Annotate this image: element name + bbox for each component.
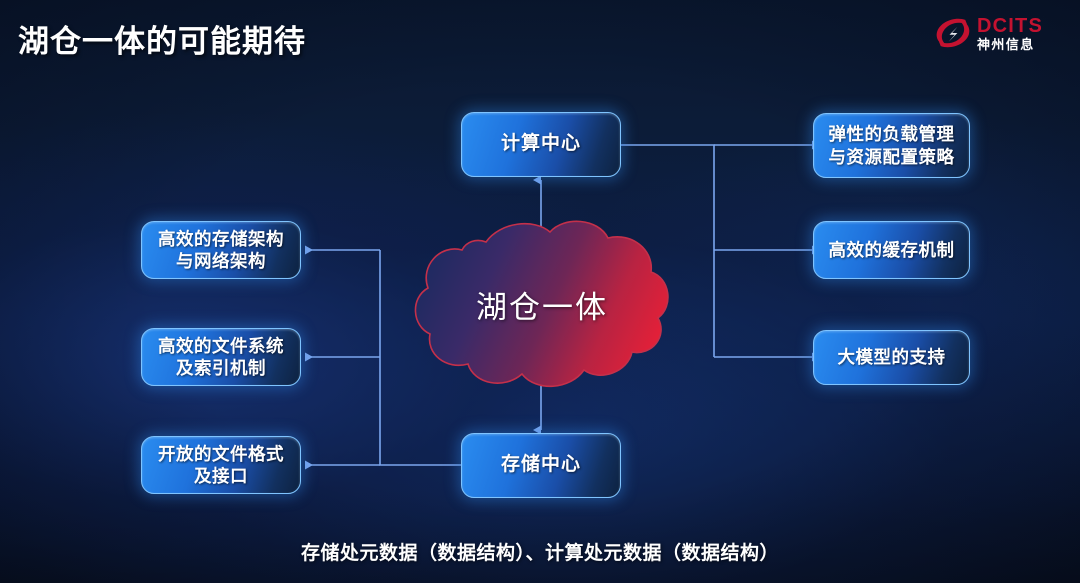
page-title: 湖仓一体的可能期待: [18, 16, 306, 61]
node-right-large-model-support[interactable]: 大模型的支持: [813, 330, 970, 385]
brand-logo: DCITS 神州信息: [932, 9, 1064, 57]
central-cloud-shape: [408, 214, 676, 394]
slide-canvas: 湖仓一体 湖仓一体的可能期待 DCITS 神州信息 计算中心 存储中心 高效的存…: [0, 0, 1080, 583]
footer-caption: 存储处元数据（数据结构）、计算处元数据（数据结构）: [0, 538, 1080, 565]
node-left-file-system[interactable]: 高效的文件系统及索引机制: [141, 328, 301, 386]
node-storage-center[interactable]: 存储中心: [461, 433, 621, 498]
node-left-open-format[interactable]: 开放的文件格式及接口: [141, 436, 301, 494]
node-right-cache-mechanism[interactable]: 高效的缓存机制: [813, 221, 970, 279]
node-right-elastic-workload[interactable]: 弹性的负载管理与资源配置策略: [813, 113, 970, 178]
node-compute-center[interactable]: 计算中心: [461, 112, 621, 177]
logo-cn-label: 神州信息: [977, 38, 1043, 51]
logo-text: DCITS 神州信息: [977, 16, 1043, 51]
logo-en-label: DCITS: [977, 16, 1043, 36]
node-left-storage-architecture[interactable]: 高效的存储架构与网络架构: [141, 221, 301, 279]
dcits-swirl-icon: [932, 12, 974, 54]
